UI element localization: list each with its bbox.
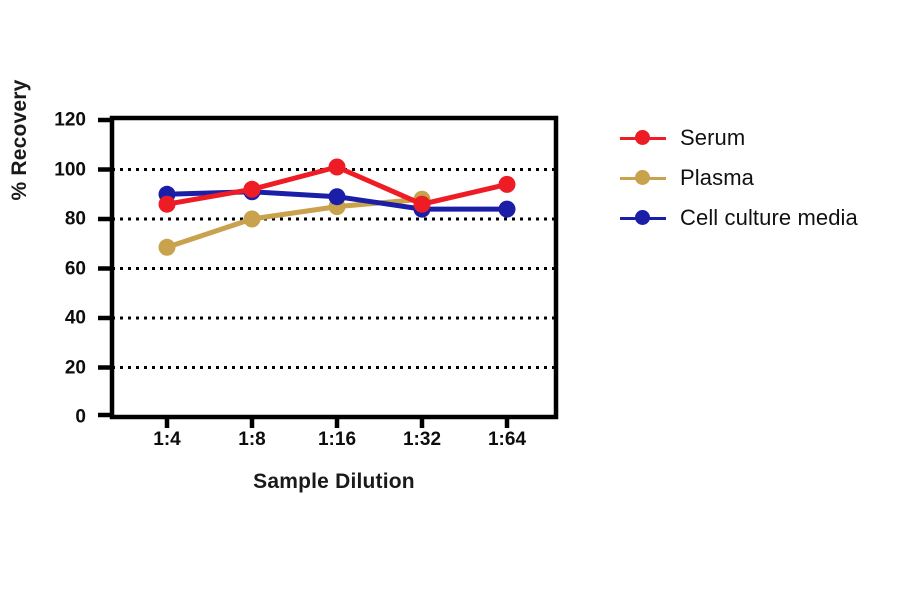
legend-item-serum: Serum <box>620 118 895 158</box>
legend-marker-serum <box>620 128 666 148</box>
x-tick-label-1-8: 1:8 <box>212 430 292 449</box>
data-point-serum-1-8 <box>244 181 261 198</box>
legend-label-cell-culture-media: Cell culture media <box>680 205 858 231</box>
chart-figure: % Recovery 120 100 80 60 40 20 0 <box>0 0 900 594</box>
legend-label-serum: Serum <box>680 125 745 151</box>
legend-item-plasma: Plasma <box>620 158 895 198</box>
x-tick-label-1-4: 1:4 <box>127 430 207 449</box>
x-tick-label-1-32: 1:32 <box>382 430 462 449</box>
legend-marker-plasma <box>620 168 666 188</box>
data-point-plasma-1-8 <box>244 211 261 228</box>
data-point-ccm-1-16 <box>329 188 346 205</box>
plot-area <box>0 0 900 594</box>
x-tick-label-1-64: 1:64 <box>467 430 547 449</box>
data-point-serum-1-64 <box>499 176 516 193</box>
x-tick-label-1-16: 1:16 <box>297 430 377 449</box>
legend-label-plasma: Plasma <box>680 165 754 191</box>
legend-dot-cell-culture-media <box>635 210 650 225</box>
x-axis-title: Sample Dilution <box>112 470 556 494</box>
legend-marker-cell-culture-media <box>620 208 666 228</box>
legend-dot-serum <box>635 130 650 145</box>
data-point-serum-1-4 <box>159 196 176 213</box>
chart-legend: Serum Plasma Cell culture media <box>620 118 895 238</box>
legend-item-cell-culture-media: Cell culture media <box>620 198 895 238</box>
data-point-ccm-1-64 <box>499 201 516 218</box>
data-point-plasma-1-4 <box>159 239 176 256</box>
data-point-serum-1-16 <box>329 159 346 176</box>
legend-dot-plasma <box>635 170 650 185</box>
data-point-serum-1-32 <box>414 196 431 213</box>
